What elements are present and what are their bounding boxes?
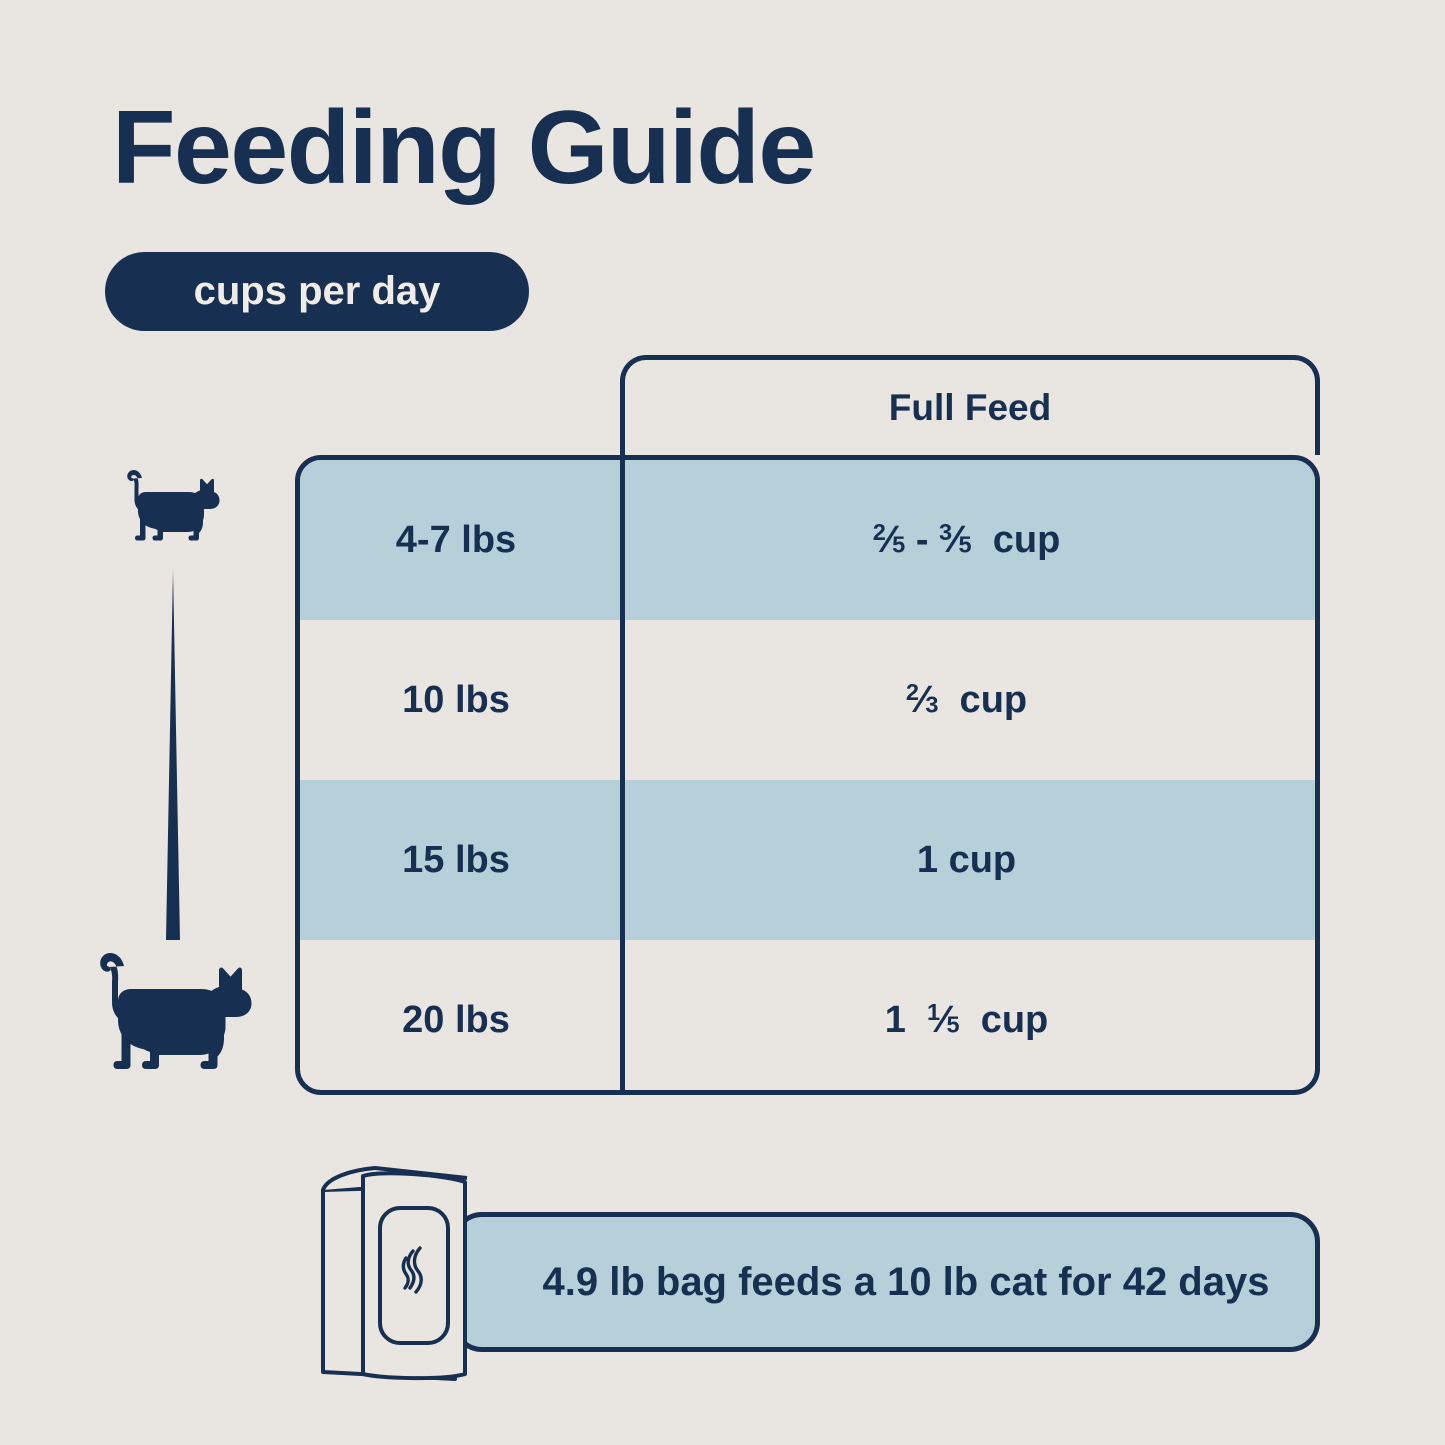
cat-size-scale — [60, 455, 300, 1095]
table-header-full-feed: Full Feed — [620, 355, 1320, 455]
feeding-guide-infographic: Feeding Guide cups per day Full Feed — [0, 0, 1445, 1445]
cell-amount: 2⁄3 cup — [618, 679, 1315, 722]
food-bag-icon — [305, 1148, 490, 1383]
table-row: 20 lbs 1 1⁄5 cup — [300, 940, 1315, 1095]
cell-amount: 1 1⁄5 cup — [618, 999, 1315, 1042]
cat-walking-icon — [80, 945, 260, 1077]
page-title: Feeding Guide — [112, 96, 815, 200]
units-badge: cups per day — [105, 252, 529, 331]
table-row: 4-7 lbs 2⁄5 - 3⁄5 cup — [300, 460, 1315, 620]
table-row: 10 lbs 2⁄3 cup — [300, 620, 1315, 780]
cell-weight: 20 lbs — [300, 999, 618, 1042]
size-scale-wedge-icon — [156, 570, 190, 940]
column-divider — [620, 460, 625, 1095]
feeding-table: Full Feed 4-7 lbs 2⁄5 - 3⁄5 cup 10 lbs 2… — [295, 355, 1320, 1100]
cell-weight: 15 lbs — [300, 839, 618, 882]
bag-duration-banner: 4.9 lb bag feeds a 10 lb cat for 42 days — [452, 1212, 1320, 1352]
cat-walking-icon — [115, 465, 225, 545]
table-row: 15 lbs 1 cup — [300, 780, 1315, 940]
bag-duration-label: 4.9 lb bag feeds a 10 lb cat for 42 days — [503, 1260, 1270, 1305]
units-badge-label: cups per day — [194, 269, 441, 314]
cell-weight: 10 lbs — [300, 679, 618, 722]
cell-amount: 1 cup — [618, 839, 1315, 882]
cell-amount: 2⁄5 - 3⁄5 cup — [618, 519, 1315, 562]
column-header-label: Full Feed — [889, 387, 1051, 429]
cell-weight: 4-7 lbs — [300, 519, 618, 562]
table-body: 4-7 lbs 2⁄5 - 3⁄5 cup 10 lbs 2⁄3 cup 15 … — [295, 455, 1320, 1095]
